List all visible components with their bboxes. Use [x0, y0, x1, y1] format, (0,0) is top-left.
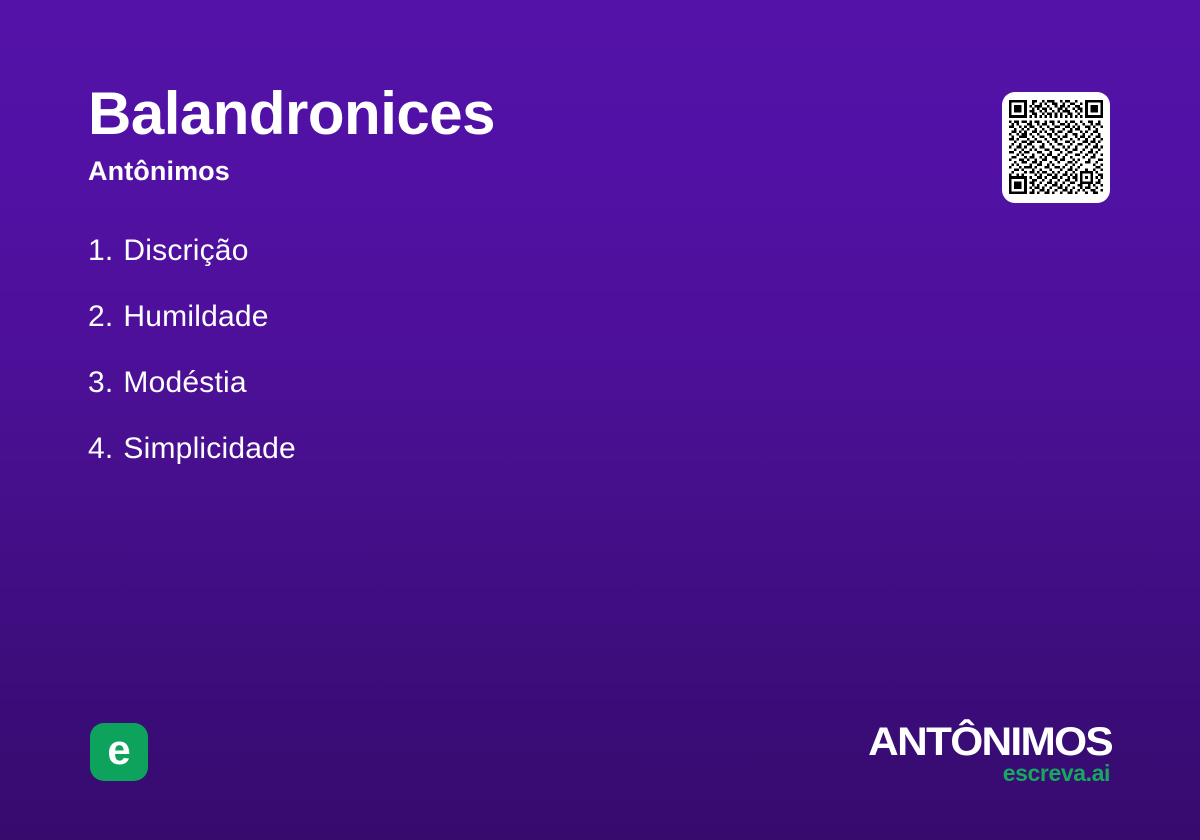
brand-wordmark[interactable]: ANTÔNIMOS escreva.ai	[812, 724, 1112, 785]
qr-code-card[interactable]	[1002, 92, 1110, 203]
list-item-index: 1.	[88, 236, 113, 266]
escreva-logo-mark[interactable]: e	[90, 723, 148, 781]
headline-block: Balandronices Antônimos	[88, 84, 948, 185]
qr-code-icon[interactable]	[1009, 99, 1103, 195]
list-item: 3. Modéstia	[88, 368, 908, 434]
list-item-label: Humildade	[123, 302, 268, 332]
list-item-index: 4.	[88, 434, 113, 464]
list-item-label: Discrição	[123, 236, 248, 266]
page-title: Balandronices	[88, 84, 948, 144]
list-item: 1. Discrição	[88, 236, 908, 302]
antonym-list: 1. Discrição 2. Humildade 3. Modéstia 4.…	[88, 236, 908, 500]
list-item-label: Modéstia	[123, 368, 246, 398]
list-item: 2. Humildade	[88, 302, 908, 368]
page-subtitle: Antônimos	[88, 158, 948, 185]
list-item-label: Simplicidade	[123, 434, 295, 464]
list-item-index: 2.	[88, 302, 113, 332]
antonyms-card: Balandronices Antônimos 1. Discrição 2. …	[0, 0, 1200, 840]
list-item: 4. Simplicidade	[88, 434, 908, 500]
logo-letter: e	[107, 729, 130, 771]
brand-tagline: escreva.ai	[812, 762, 1110, 785]
brand-wordmark-title: ANTÔNIMOS	[794, 724, 1112, 761]
list-item-index: 3.	[88, 368, 113, 398]
